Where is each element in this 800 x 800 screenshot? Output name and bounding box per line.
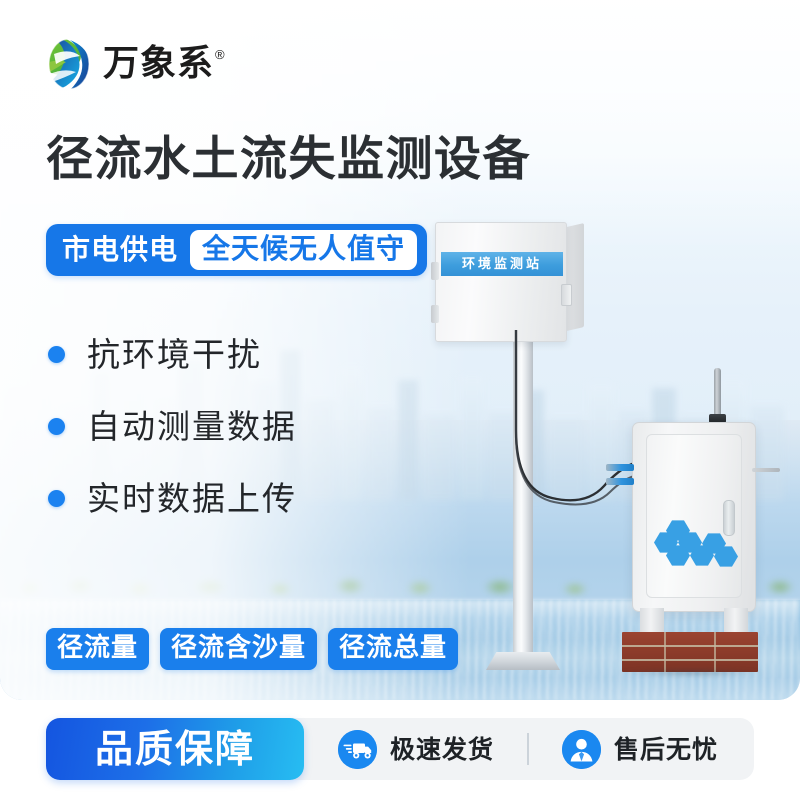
- highlight-badge: 市电供电 全天候无人值守: [46, 224, 427, 276]
- bullet-dot-icon: [48, 490, 65, 507]
- brick-foundation: [622, 632, 758, 672]
- background-scene: 环境监测站: [0, 0, 800, 700]
- page-title: 径流水土流失监测设备: [46, 133, 531, 187]
- hexagon-decal-graphic: [652, 520, 730, 572]
- sign-box-hinge-bottom: [431, 305, 439, 323]
- measurement-tag: 径流总量: [328, 628, 458, 670]
- cabinet-cable-ports: [606, 462, 640, 496]
- badge-primary-label: 市电供电: [62, 236, 190, 264]
- feature-label: 自动测量数据: [87, 410, 297, 443]
- feature-item: 实时数据上传: [48, 462, 297, 534]
- footer-divider: [527, 733, 529, 765]
- pole-base-plate: [486, 652, 560, 670]
- footer-bar: 品质保障: [0, 700, 800, 800]
- quality-guarantee-badge: 品质保障: [46, 718, 304, 780]
- product-poster: 环境监测站: [0, 0, 800, 800]
- feature-label: 实时数据上传: [87, 482, 297, 515]
- brand-logo: 万象系 ®: [44, 36, 225, 92]
- brand-name-lockup: 万象系 ®: [103, 46, 225, 82]
- sign-box-hinge-top: [431, 262, 439, 280]
- sign-box-latch: [561, 284, 572, 306]
- sign-box-enclosure: [435, 222, 567, 342]
- swirl-globe-logo-icon: [44, 36, 94, 92]
- quality-guarantee-label: 品质保障: [95, 730, 255, 768]
- feature-label: 抗环境干扰: [87, 338, 262, 371]
- customer-service-person-icon: [562, 730, 601, 769]
- badge-secondary-label: 全天候无人值守: [190, 230, 417, 270]
- service-label: 极速发货: [390, 737, 494, 762]
- service-fast-shipping: 极速发货: [338, 718, 494, 780]
- sign-box-plate-text: 环境监测站: [462, 258, 542, 271]
- brand-name: 万象系: [103, 46, 214, 82]
- feature-item: 抗环境干扰: [48, 318, 297, 390]
- bullet-dot-icon: [48, 418, 65, 435]
- foundation-shadow: [618, 668, 764, 677]
- bullet-dot-icon: [48, 346, 65, 363]
- delivery-truck-icon: [338, 730, 377, 769]
- measurement-tag-list: 径流量 径流含沙量 径流总量: [46, 628, 458, 670]
- measurement-tag: 径流量: [46, 628, 149, 670]
- measurement-tag: 径流含沙量: [160, 628, 317, 670]
- feature-list: 抗环境干扰 自动测量数据 实时数据上传: [48, 318, 297, 534]
- sign-box-name-plate: 环境监测站: [441, 252, 563, 276]
- antenna-rod-icon: [714, 368, 721, 418]
- feature-item: 自动测量数据: [48, 390, 297, 462]
- service-after-sales: 售后无忧: [562, 718, 718, 780]
- service-label: 售后无忧: [614, 737, 718, 762]
- cabinet-side-bracket: [752, 468, 780, 472]
- registered-trademark-icon: ®: [215, 48, 225, 61]
